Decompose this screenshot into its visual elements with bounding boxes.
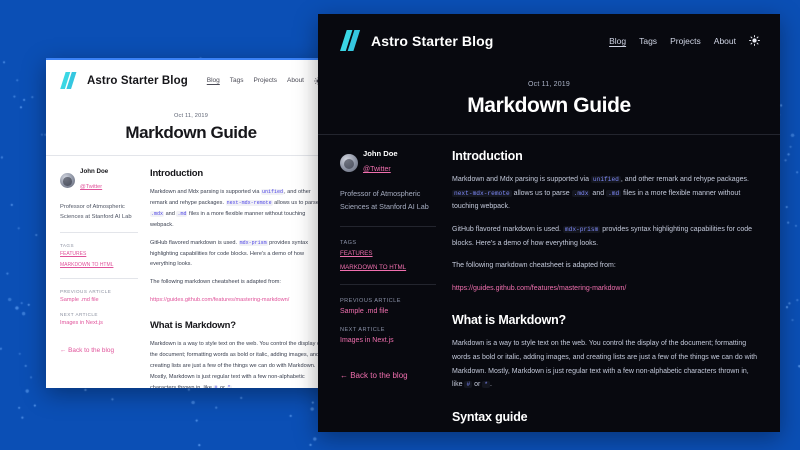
external-link[interactable]: https://guides.github.com/features/maste…: [150, 297, 289, 303]
site-header: Astro Starter Blog Blog Tags Projects Ab…: [46, 60, 336, 99]
back-to-blog-link[interactable]: ← Back to the blog: [340, 371, 408, 380]
dark-theme-window[interactable]: Astro Starter Blog Blog Tags Projects Ab…: [318, 14, 780, 432]
divider: [60, 278, 138, 279]
post-header: Oct 11, 2019 Markdown Guide: [318, 65, 780, 134]
next-article-link[interactable]: Images in Next.js: [60, 320, 138, 326]
tag-markdown-to-html[interactable]: MARKDOWN TO HTML: [340, 264, 406, 271]
inline-code: #: [464, 381, 472, 388]
article-content: IntroductionMarkdown and Mdx parsing is …: [452, 149, 760, 432]
paragraph: Markdown is a way to style text on the w…: [452, 337, 760, 392]
tags-label: Tags: [60, 243, 138, 248]
next-article-label: Next article: [340, 327, 436, 333]
nav-link-blog[interactable]: Blog: [207, 77, 220, 84]
brand-name: Astro Starter Blog: [371, 33, 493, 49]
paragraph: https://guides.github.com/features/maste…: [452, 282, 760, 296]
post-body: John Doe @Twitter Professor of Atmospher…: [46, 156, 336, 388]
divider: [60, 232, 138, 233]
author-bio: Professor of Atmospheric Sciences at Sta…: [60, 202, 138, 222]
post-header: Oct 11, 2019 Markdown Guide: [46, 99, 336, 155]
tag-list: FEATURES MARKDOWN TO HTML: [340, 250, 436, 271]
paragraph: GitHub flavored markdown is used. mdx-pr…: [452, 223, 760, 250]
nav-link-blog[interactable]: Blog: [609, 36, 626, 46]
author-handle-link[interactable]: @Twitter: [363, 166, 391, 173]
inline-code: unified: [261, 189, 284, 195]
post-date: Oct 11, 2019: [318, 81, 780, 88]
nav-link-tags[interactable]: Tags: [230, 77, 244, 84]
inline-code: mdx-prism: [239, 240, 268, 246]
section-heading: Syntax guide: [452, 410, 760, 424]
next-article-label: Next article: [60, 312, 138, 317]
nav-link-about[interactable]: About: [287, 77, 304, 84]
author-name: John Doe: [80, 168, 108, 175]
author-block: John Doe @Twitter: [340, 149, 436, 176]
tags-block: Tags FEATURES MARKDOWN TO HTML: [60, 243, 138, 268]
back-to-blog-link[interactable]: ← Back to the blog: [60, 347, 114, 354]
page-title: Markdown Guide: [46, 123, 336, 143]
astro-logo-icon: [60, 72, 79, 89]
previous-article-block: Previous article Sample .md file: [340, 298, 436, 315]
inline-code: next-mdx-remote: [226, 200, 273, 206]
previous-article-label: Previous article: [60, 289, 138, 294]
next-article-link[interactable]: Images in Next.js: [340, 337, 436, 344]
next-article-block: Next article Images in Next.js: [60, 312, 138, 326]
paragraph: The following markdown cheatsheet is ada…: [150, 277, 322, 288]
inline-code: .md: [606, 190, 621, 197]
tag-list: FEATURES MARKDOWN TO HTML: [60, 251, 138, 268]
nav-link-projects[interactable]: Projects: [254, 77, 277, 84]
inline-code: *: [227, 385, 232, 388]
paragraph: The following markdown cheatsheet is ada…: [452, 259, 760, 273]
post-date: Oct 11, 2019: [46, 113, 336, 119]
external-link[interactable]: https://guides.github.com/features/maste…: [452, 285, 626, 292]
inline-code: next-mdx-remote: [452, 190, 512, 197]
section-heading: What is Markdown?: [452, 313, 760, 327]
article-sections: IntroductionMarkdown and Mdx parsing is …: [150, 168, 322, 388]
nav-link-tags[interactable]: Tags: [639, 36, 657, 46]
tag-features[interactable]: FEATURES: [340, 250, 373, 257]
post-sidebar: John Doe @Twitter Professor of Atmospher…: [60, 168, 138, 388]
light-theme-window[interactable]: Astro Starter Blog Blog Tags Projects Ab…: [46, 58, 336, 388]
previous-article-block: Previous article Sample .md file: [60, 289, 138, 303]
post-body: John Doe @Twitter Professor of Atmospher…: [318, 135, 780, 432]
section-heading: What is Markdown?: [150, 320, 322, 331]
avatar: [60, 173, 75, 188]
inline-code: .mdx: [572, 190, 591, 197]
previous-article-label: Previous article: [340, 298, 436, 304]
section-heading: Introduction: [150, 168, 322, 179]
divider: [340, 226, 436, 227]
next-article-block: Next article Images in Next.js: [340, 327, 436, 344]
paragraph: https://guides.github.com/features/maste…: [150, 295, 322, 306]
author-bio: Professor of Atmospheric Sciences at Sta…: [340, 188, 436, 213]
astro-logo-icon: [340, 30, 363, 51]
paragraph: GitHub flavored markdown is used. mdx-pr…: [150, 238, 322, 271]
inline-code: .md: [176, 211, 187, 217]
brand[interactable]: Astro Starter Blog: [60, 72, 188, 89]
article-sections: IntroductionMarkdown and Mdx parsing is …: [452, 149, 760, 432]
section-heading: Introduction: [452, 149, 760, 163]
author-name: John Doe: [363, 149, 398, 158]
avatar: [340, 154, 358, 172]
nav-link-about[interactable]: About: [714, 36, 736, 46]
nav-link-projects[interactable]: Projects: [670, 36, 701, 46]
article-content: IntroductionMarkdown and Mdx parsing is …: [150, 168, 322, 388]
tags-block: Tags FEATURES MARKDOWN TO HTML: [340, 240, 436, 271]
divider: [340, 284, 436, 285]
brand-name: Astro Starter Blog: [87, 75, 188, 87]
previous-article-link[interactable]: Sample .md file: [340, 308, 436, 315]
paragraph: Markdown and Mdx parsing is supported vi…: [452, 173, 760, 214]
inline-code: .mdx: [150, 211, 164, 217]
post-sidebar: John Doe @Twitter Professor of Atmospher…: [340, 149, 436, 432]
tags-label: Tags: [340, 240, 436, 246]
inline-code: #: [213, 385, 218, 388]
paragraph: Markdown is a way to style text on the w…: [150, 339, 322, 388]
tag-features[interactable]: FEATURES: [60, 251, 86, 257]
sun-icon[interactable]: [749, 35, 760, 46]
inline-code: unified: [591, 176, 621, 183]
paragraph: Markdown and Mdx parsing is supported vi…: [150, 187, 322, 231]
inline-code: *: [482, 381, 490, 388]
main-nav: Blog Tags Projects About: [207, 77, 322, 85]
brand[interactable]: Astro Starter Blog: [340, 30, 493, 51]
site-header: Astro Starter Blog Blog Tags Projects Ab…: [318, 14, 780, 65]
page-title: Markdown Guide: [318, 94, 780, 118]
inline-code: mdx-prism: [563, 226, 600, 233]
main-nav: Blog Tags Projects About: [609, 35, 760, 46]
previous-article-link[interactable]: Sample .md file: [60, 297, 138, 303]
tag-markdown-to-html[interactable]: MARKDOWN TO HTML: [60, 262, 113, 268]
author-block: John Doe @Twitter: [60, 168, 138, 193]
author-handle-link[interactable]: @Twitter: [80, 184, 102, 190]
